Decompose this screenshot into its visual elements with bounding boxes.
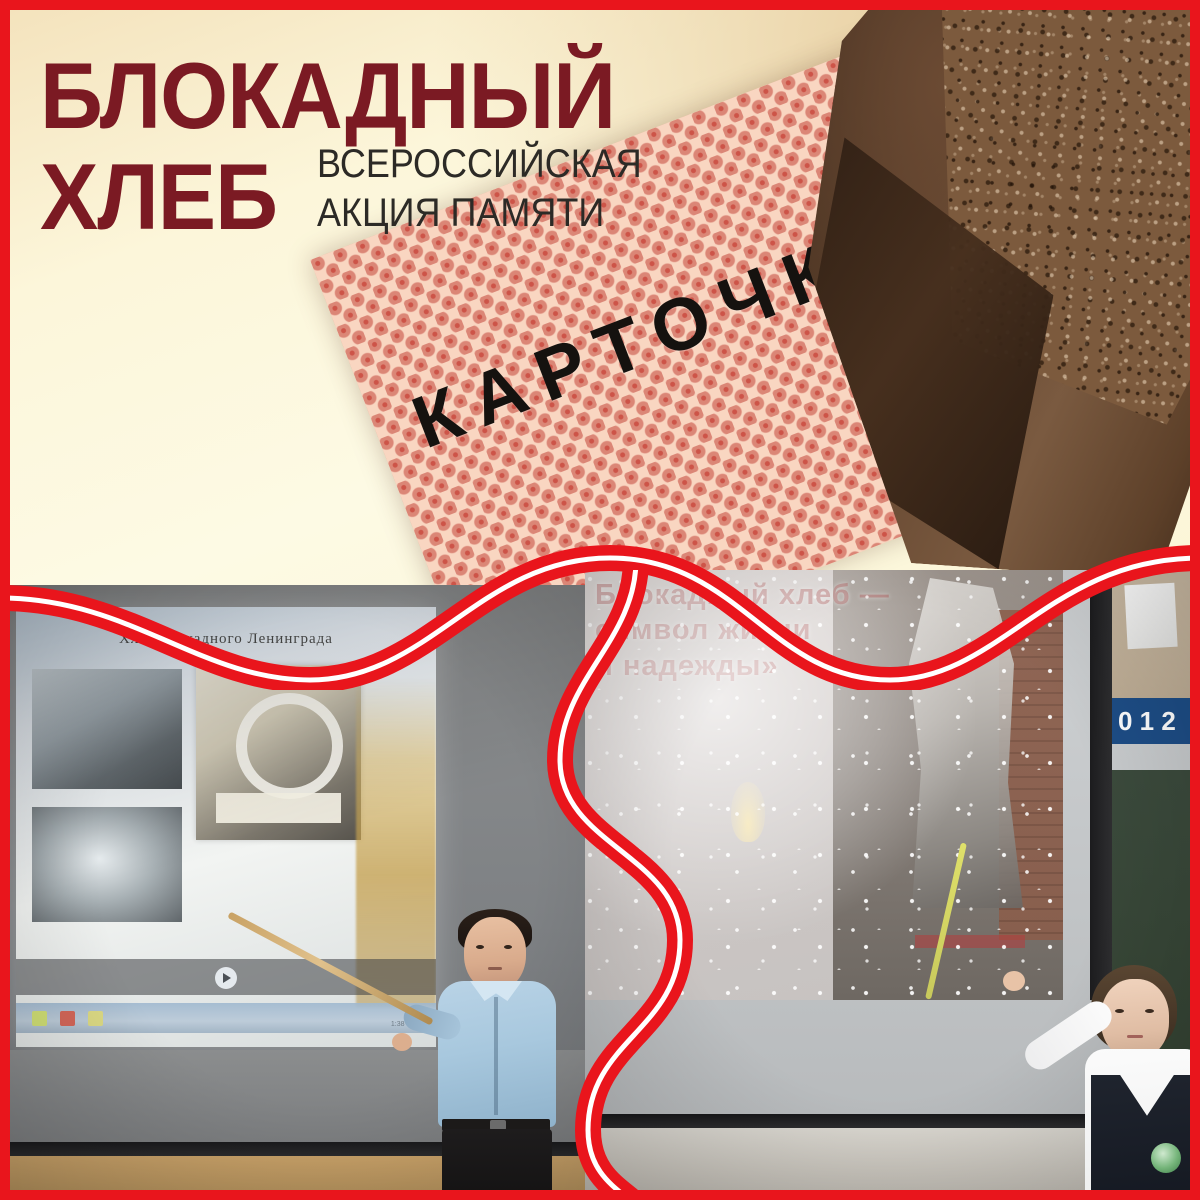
- projector-screen-right: Блокадный хлеб — символ жизни и надежды»: [585, 570, 1063, 1000]
- bread-body: [780, 10, 1190, 585]
- screen-frame-right: [1090, 570, 1112, 1000]
- student-girl: [1045, 965, 1190, 1190]
- boy-head: [464, 917, 526, 991]
- boy-mouth: [488, 967, 502, 970]
- boy-eye-right: [504, 945, 512, 949]
- girl-mouth: [1127, 1035, 1143, 1038]
- boy-trousers: [442, 1129, 552, 1190]
- wall-paper-sheet: [1124, 583, 1177, 650]
- boy-shirt-placket: [494, 997, 498, 1115]
- girl-eye-left: [1115, 1009, 1124, 1013]
- page-title-line2: ХЛЕБ: [40, 153, 277, 240]
- girl-school-badge-icon: [1151, 1143, 1181, 1173]
- taskbar-icon-1[interactable]: [32, 1011, 47, 1026]
- wall-number-strip: 0 1 2: [1112, 698, 1190, 744]
- wall-number-strip-label: 0 1 2: [1118, 706, 1176, 737]
- page-title-line1: БЛОКАДНЫЙ: [40, 52, 691, 139]
- subtitle-line1: ВСЕРОССИЙСКАЯ: [317, 143, 642, 191]
- taskbar-icon-2[interactable]: [60, 1011, 75, 1026]
- girl-eye-right: [1145, 1009, 1154, 1013]
- subtitle-block: ВСЕРОССИЙСКАЯ АКЦИЯ ПАМЯТИ: [317, 143, 678, 240]
- play-button-icon[interactable]: [215, 967, 237, 989]
- boy-hand: [392, 1033, 412, 1051]
- subtitle-line2: АКЦИЯ ПАМЯТИ: [317, 192, 642, 240]
- poster-root: КАРТОЧКА ХЛЕБ 1942 г. БЛОКАДНЫЙ ХЛЕБ ВСЕ…: [0, 0, 1200, 1200]
- poster-inner-frame: КАРТОЧКА ХЛЕБ 1942 г. БЛОКАДНЫЙ ХЛЕБ ВСЕ…: [10, 10, 1190, 1190]
- title-block: БЛОКАДНЫЙ ХЛЕБ ВСЕРОССИЙСКАЯ АКЦИЯ ПАМЯТ…: [40, 52, 740, 240]
- windows-taskbar[interactable]: [16, 1003, 436, 1033]
- projector-glare: [585, 570, 975, 940]
- taskbar-icon-3[interactable]: [88, 1011, 103, 1026]
- bread-slice-photo: [780, 10, 1190, 585]
- banner-section: КАРТОЧКА ХЛЕБ 1942 г. БЛОКАДНЫЙ ХЛЕБ ВСЕ…: [10, 10, 1190, 610]
- girl-hand: [1003, 971, 1025, 991]
- boy-eye-left: [476, 945, 484, 949]
- student-boy: [408, 905, 598, 1190]
